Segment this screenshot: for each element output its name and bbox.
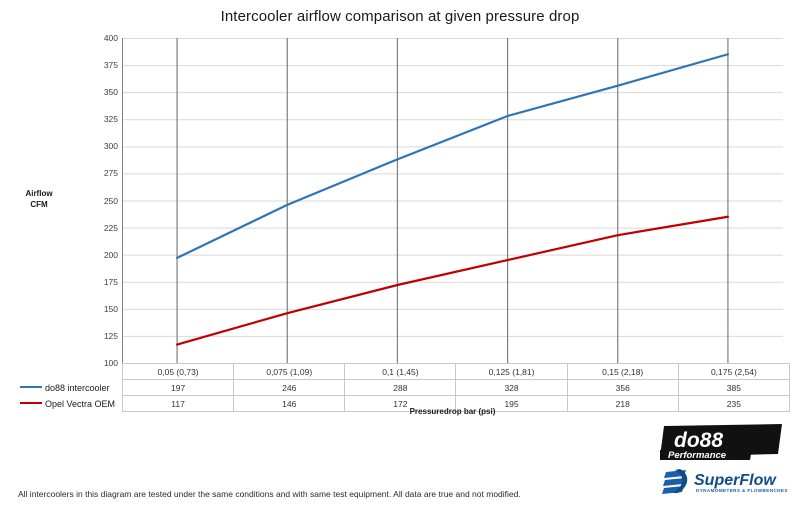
legend-swatch-series-1 [20,402,42,404]
series-line-1 [177,217,728,345]
series-line-0 [177,54,728,258]
y-axis-tick-labels: 400375350325300275250225200175150125100 [88,31,118,370]
table-header-cell: 0,15 (2,18) [567,364,678,380]
table-cell: 288 [345,380,456,396]
y-tick-label: 375 [88,60,118,70]
do88-logo-subtext: Performance [668,450,727,460]
legend-item-series-1[interactable]: Opel Vectra OEM [18,396,123,412]
y-tick-label: 350 [88,87,118,97]
superflow-logo-text: SuperFlow [694,472,777,489]
y-tick-label: 275 [88,168,118,178]
y-tick-label: 400 [88,33,118,43]
legend-swatch-series-0 [20,386,42,388]
table-cell: 246 [234,380,345,396]
do88-logo-text: do88 [674,429,723,452]
superflow-logo-subtext: DYNAMOMETERS & FLOWBENCHES [696,488,788,493]
table-header-cell: 0,175 (2,54) [678,364,789,380]
plot-area [122,38,783,363]
y-tick-label: 225 [88,223,118,233]
x-axis-title: Pressuredrop bar (psi) [122,407,783,416]
table-header-cell: 0,125 (1,81) [456,364,567,380]
y-tick-label: 250 [88,196,118,206]
table-corner-cell [18,364,123,380]
table-cell: 197 [123,380,234,396]
table-cell: 356 [567,380,678,396]
legend-item-series-0[interactable]: do88 intercooler [18,380,123,396]
superflow-mark-icon [662,469,687,494]
superflow-logo-text-part2: Flow [739,472,777,489]
logo-group: do88 Performance SuperFlow DYNAMOMETERS … [660,424,790,502]
chart-plot-svg [122,38,783,363]
series-lines [177,54,728,344]
y-axis-title-line1: Airflow [8,188,70,199]
y-axis-title-line2: CFM [8,199,70,210]
do88-performance-logo: do88 Performance [660,424,782,460]
y-tick-label: 325 [88,114,118,124]
table-header-cell: 0,1 (1,45) [345,364,456,380]
y-axis-title: Airflow CFM [8,188,70,210]
table-header-cell: 0,05 (0,73) [123,364,234,380]
footnote-text: All intercoolers in this diagram are tes… [18,489,521,499]
table-cell: 385 [678,380,789,396]
data-table: 0,05 (0,73)0,075 (1,09)0,1 (1,45)0,125 (… [18,363,790,412]
y-tick-label: 300 [88,141,118,151]
superflow-logo-text-part1: Super [694,472,740,489]
legend-label-series-1: Opel Vectra OEM [45,399,115,409]
y-tick-label: 175 [88,277,118,287]
y-tick-label: 150 [88,304,118,314]
superflow-logo: SuperFlow DYNAMOMETERS & FLOWBENCHES [660,466,790,498]
horizontal-gridlines [122,39,783,364]
table-row-categories: 0,05 (0,73)0,075 (1,09)0,1 (1,45)0,125 (… [18,364,789,380]
table-row: do88 intercooler 197246288328356385 [18,380,789,396]
y-tick-label: 125 [88,331,118,341]
chart-title: Intercooler airflow comparison at given … [0,8,800,25]
data-table-body: 0,05 (0,73)0,075 (1,09)0,1 (1,45)0,125 (… [18,364,789,412]
table-header-cell: 0,075 (1,09) [234,364,345,380]
y-tick-label: 200 [88,250,118,260]
legend-label-series-0: do88 intercooler [45,383,110,393]
table-cell: 328 [456,380,567,396]
